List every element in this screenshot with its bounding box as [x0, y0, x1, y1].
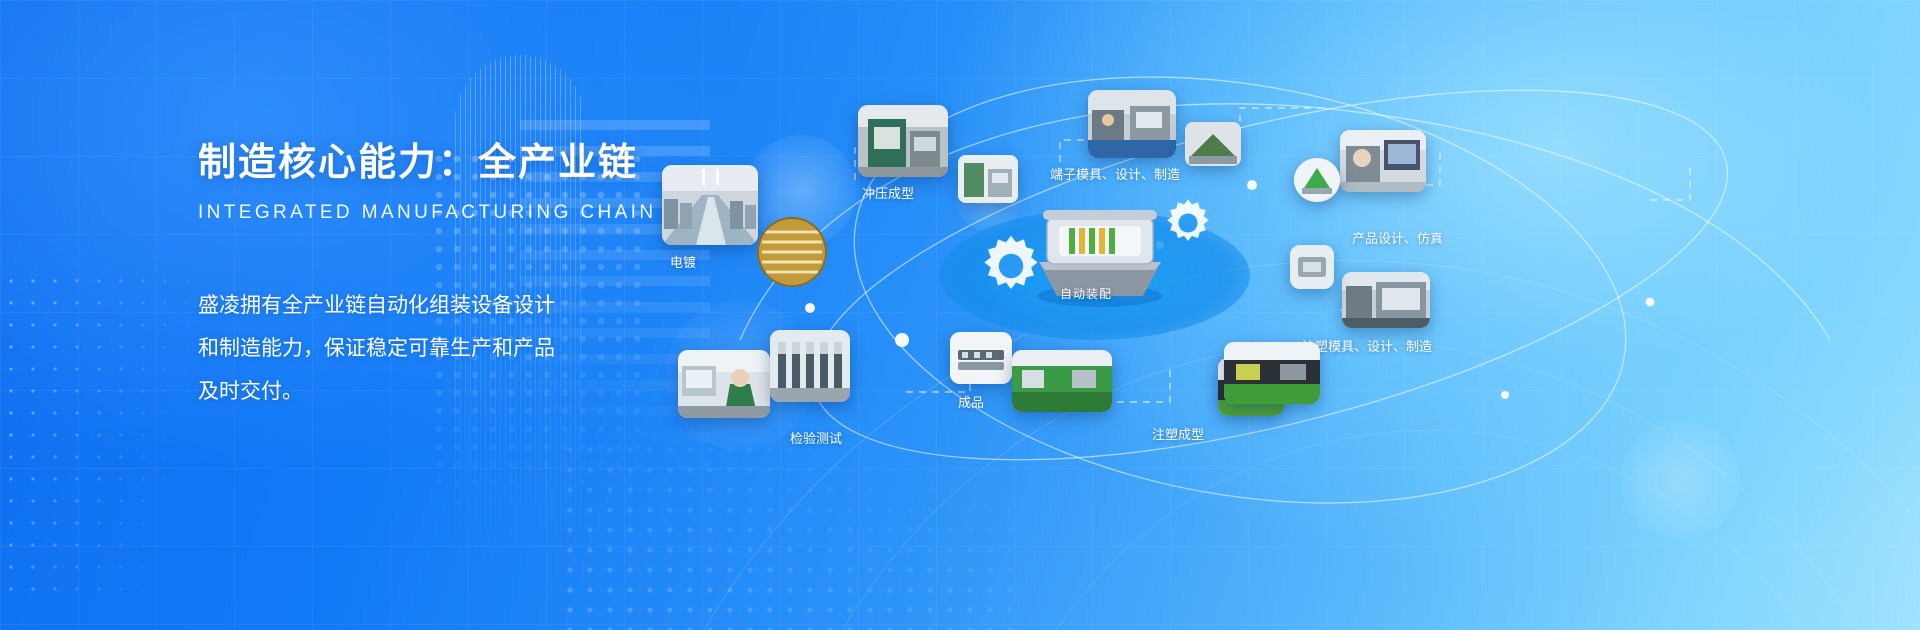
node-plating-thumbnail[interactable] [662, 165, 758, 245]
terminal-mold-detail-thumbnail[interactable] [1185, 122, 1241, 166]
assembly-line-photo [1012, 350, 1112, 412]
plating-line-photo [662, 165, 758, 245]
node-terminal-mold-thumbnail[interactable] [1088, 90, 1176, 158]
background-dots-left [0, 270, 200, 600]
node-injection-mold-label: 注塑模具、设计、制造 [1302, 336, 1432, 355]
node-product-design-label: 产品设计、仿真 [1352, 228, 1443, 247]
stamping-detail-photo [958, 155, 1018, 203]
node-terminal-mold-label: 端子模具、设计、制造 [1050, 164, 1180, 183]
stamping-detail-thumbnail[interactable] [958, 155, 1018, 203]
hub-label: 自动装配 [1060, 285, 1112, 302]
node-injection-molding-label: 注塑成型 [1152, 424, 1204, 443]
node-inspection-test-label: 检验测试 [790, 428, 842, 447]
product-design-icon-badge[interactable] [1294, 158, 1340, 202]
injection-mold-photo [1342, 272, 1430, 328]
node-stamping-thumbnail[interactable] [858, 105, 948, 177]
node-finished-product-thumbnail[interactable] [950, 332, 1012, 384]
banner-stage: 制造核心能力：全产业链 INTEGRATED MANUFACTURING CHA… [0, 0, 1920, 630]
terminal-mold-detail-photo [1185, 122, 1241, 166]
node-stamping-label: 冲压成型 [862, 183, 914, 202]
injection-mold-detail-thumbnail[interactable] [1290, 245, 1334, 289]
node-plating-label: 电镀 [670, 252, 696, 271]
mold-part-icon [1290, 245, 1334, 289]
orbit-paths [640, 40, 1920, 600]
node-finished-product-label: 成品 [958, 392, 984, 411]
inspection-test-photo [678, 350, 770, 418]
node-inspection-test-thumbnail[interactable] [678, 350, 770, 418]
test-rack-photo [770, 330, 850, 402]
stamping-machine-photo [858, 105, 948, 177]
terminal-mold-photo [1088, 90, 1176, 158]
manufacturing-chain-diagram: 自动装配 电镀 [640, 40, 1920, 600]
test-rack-thumbnail[interactable] [770, 330, 850, 402]
finished-product-photo [950, 332, 1012, 384]
product-design-photo [1340, 130, 1426, 192]
coil-icon [750, 210, 834, 294]
page-description: 盛凌拥有全产业链自动化组装设备设计和制造能力，保证稳定可靠生产和产品及时交付。 [198, 284, 570, 413]
node-injection-mold-thumbnail[interactable] [1342, 272, 1430, 328]
cad-model-icon [1294, 158, 1340, 202]
workshop-photo [1224, 342, 1320, 404]
workshop-thumbnail[interactable] [1224, 342, 1320, 404]
node-product-design-thumbnail[interactable] [1340, 130, 1426, 192]
assembly-line-thumbnail[interactable] [1012, 350, 1112, 412]
